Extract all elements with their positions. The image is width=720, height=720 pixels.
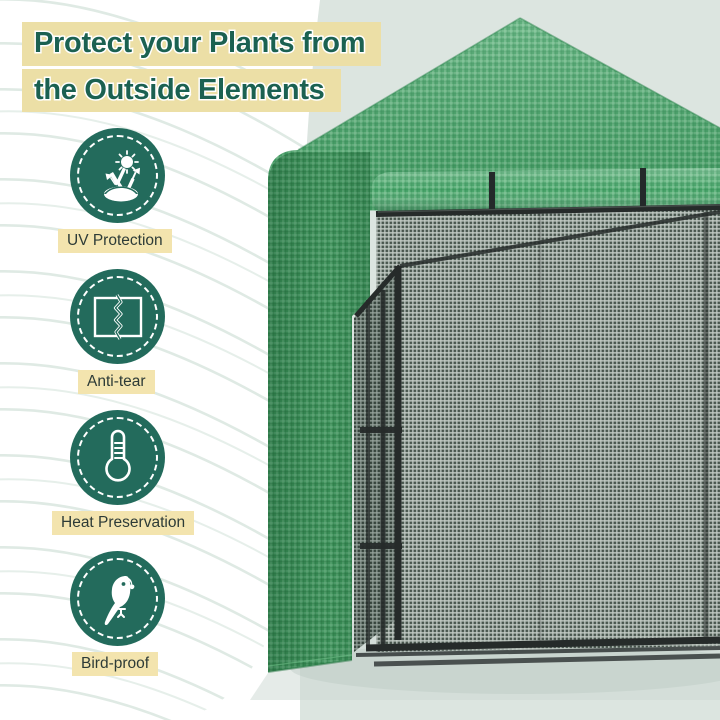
feature-item-anti-tear: Anti-tear <box>0 269 260 394</box>
mesh-screen-window <box>376 208 720 652</box>
feature-label-bird-proof: Bird-proof <box>72 652 158 676</box>
feature-label-anti-tear: Anti-tear <box>78 370 155 394</box>
uv-protection-badge <box>70 128 165 223</box>
bird-proof-badge <box>70 551 165 646</box>
anti-tear-badge <box>70 269 165 364</box>
feature-label-heat-preservation: Heat Preservation <box>52 511 194 535</box>
headline-line-2: the Outside Elements <box>22 69 341 113</box>
feature-label-uv-protection: UV Protection <box>58 229 172 253</box>
headline-block: Protect your Plants from the Outside Ele… <box>0 22 381 115</box>
anti-tear-icon <box>90 291 146 343</box>
thermometer-icon <box>93 429 143 487</box>
headline-line-1: Protect your Plants from <box>22 22 381 66</box>
uv-protection-icon <box>89 147 147 205</box>
feature-list: UV Protection Anti-tear <box>0 128 260 692</box>
heat-preservation-badge <box>70 410 165 505</box>
feature-item-bird-proof: Bird-proof <box>0 551 260 676</box>
bird-icon <box>92 569 144 629</box>
feature-item-heat-preservation: Heat Preservation <box>0 410 260 535</box>
product-marketing-image: Protect your Plants from the Outside Ele… <box>0 0 720 720</box>
greenhouse-interior-side <box>354 268 398 652</box>
feature-item-uv-protection: UV Protection <box>0 128 260 253</box>
